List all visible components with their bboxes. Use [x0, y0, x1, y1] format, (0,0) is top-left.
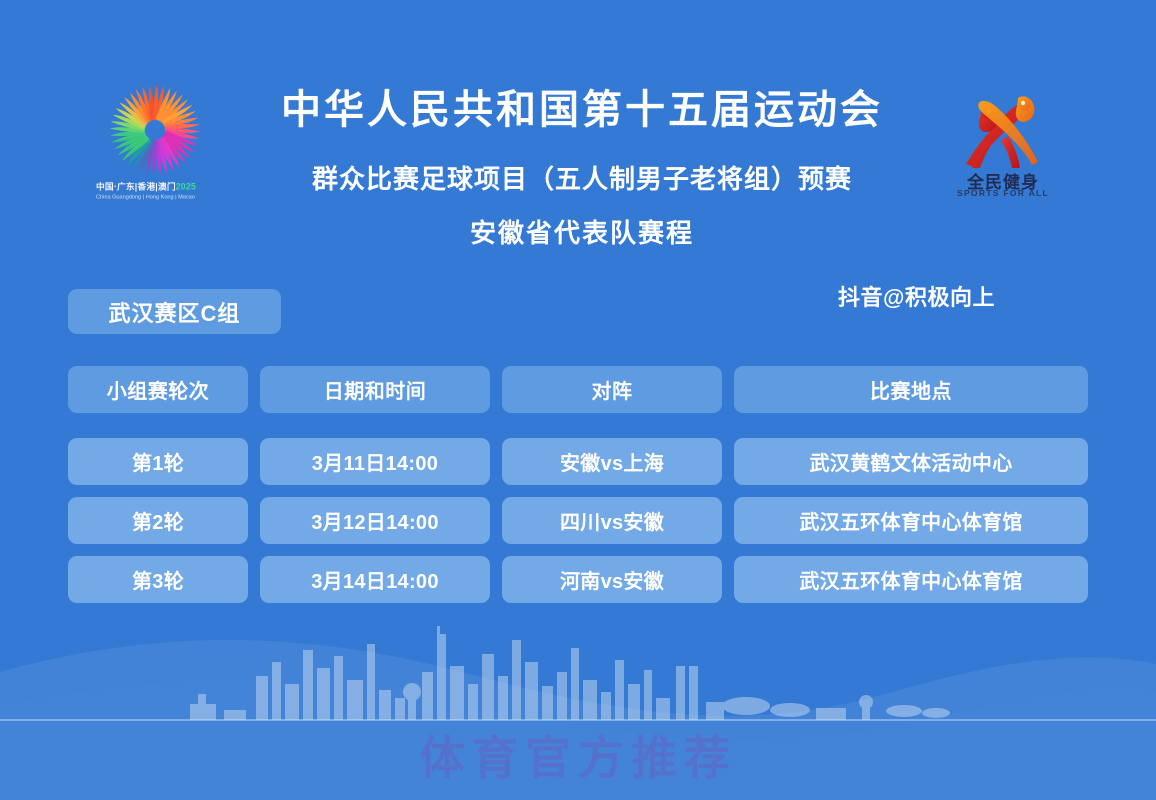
- sports-for-all-figures-icon: [952, 84, 1052, 170]
- bottom-decoration: [0, 620, 1156, 800]
- sports-for-all-caption-en: SPORTS FOR ALL: [944, 188, 1062, 198]
- group-badge-label: 武汉赛区C组: [109, 296, 241, 328]
- cell-matchup: 河南vs安徽: [502, 556, 722, 603]
- cell-datetime: 3月11日14:00: [260, 438, 490, 485]
- cell-venue: 武汉五环体育中心体育馆: [734, 556, 1088, 603]
- skyline-silhouette: [190, 626, 950, 720]
- column-header-round: 小组赛轮次: [68, 366, 248, 413]
- cell-datetime: 3月12日14:00: [260, 497, 490, 544]
- cell-round: 第1轮: [68, 438, 248, 485]
- table-header-row: 小组赛轮次 日期和时间 对阵 比赛地点: [68, 366, 1088, 413]
- poster-header: 中国·广东|香港|澳门2025 China Guangdong | Hong K…: [0, 0, 1156, 270]
- waterline: [0, 719, 1156, 721]
- sports-for-all-emblem: 全民健身 SPORTS FOR ALL: [944, 84, 1062, 208]
- cell-venue: 武汉五环体育中心体育馆: [734, 497, 1088, 544]
- wave-back: [0, 640, 1156, 800]
- column-header-matchup: 对阵: [502, 366, 722, 413]
- group-badge: 武汉赛区C组: [68, 289, 281, 334]
- wave-mid: [0, 679, 1156, 800]
- table-row: 第3轮 3月14日14:00 河南vs安徽 武汉五环体育中心体育馆: [68, 556, 1088, 603]
- poster-title-team: 安徽省代表队赛程: [0, 216, 1156, 250]
- watermark-text: 体育官方推荐: [0, 722, 1156, 788]
- cell-matchup: 四川vs安徽: [502, 497, 722, 544]
- cell-matchup: 安徽vs上海: [502, 438, 722, 485]
- column-header-datetime: 日期和时间: [260, 366, 490, 413]
- cell-venue: 武汉黄鹤文体活动中心: [734, 438, 1088, 485]
- table-row: 第2轮 3月12日14:00 四川vs安徽 武汉五环体育中心体育馆: [68, 497, 1088, 544]
- table-row: 第1轮 3月11日14:00 安徽vs上海 武汉黄鹤文体活动中心: [68, 438, 1088, 485]
- cell-datetime: 3月14日14:00: [260, 556, 490, 603]
- schedule-table: 小组赛轮次 日期和时间 对阵 比赛地点 第1轮 3月11日14:00 安徽vs上…: [68, 366, 1088, 603]
- column-header-venue: 比赛地点: [734, 366, 1088, 413]
- author-credit: 抖音@积极向上: [838, 280, 995, 312]
- cell-round: 第3轮: [68, 556, 248, 603]
- cell-round: 第2轮: [68, 497, 248, 544]
- table-body: 第1轮 3月11日14:00 安徽vs上海 武汉黄鹤文体活动中心 第2轮 3月1…: [68, 438, 1088, 603]
- skyline-reflection: [190, 722, 950, 800]
